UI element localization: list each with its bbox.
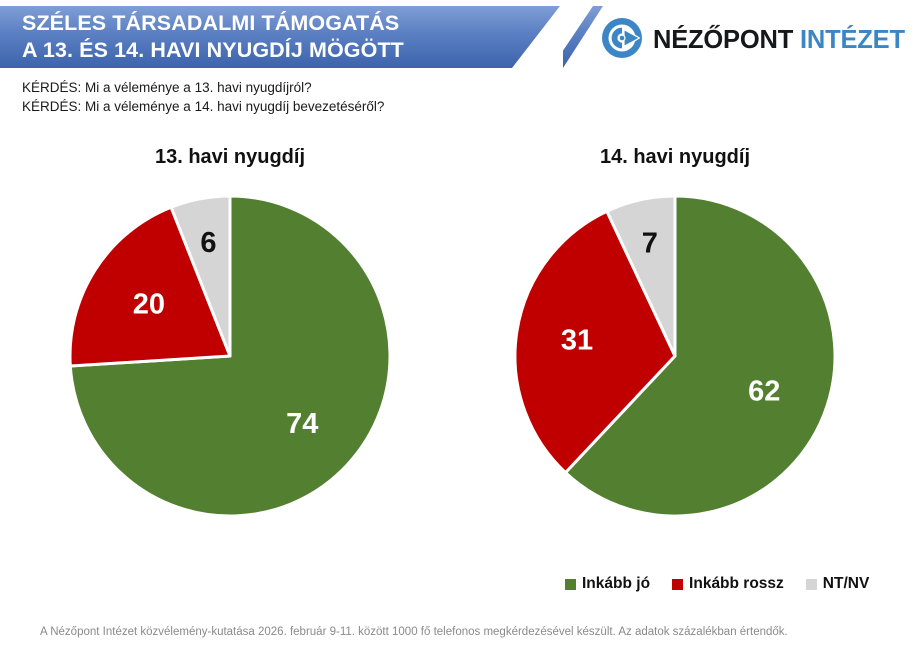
charts-area: 13. havi nyugdíj 74206 14. havi nyugdíj …	[0, 146, 913, 566]
pie-chart-14th-month: 14. havi nyugdíj 62317	[465, 146, 885, 566]
legend-item-inkabb-jo[interactable]: Inkább jó	[565, 575, 650, 593]
survey-question-1: KÉRDÉS: Mi a véleménye a 13. havi nyugdí…	[22, 78, 384, 97]
pie-canvas: 74206	[20, 188, 440, 528]
pie-slice-value-label: 7	[642, 228, 658, 260]
brand-name-secondary: INTÉZET	[800, 26, 905, 54]
pie-slice-value-label: 20	[133, 289, 165, 321]
header-banner-accent-sliver	[563, 6, 603, 68]
chart-title: 14. havi nyugdíj	[465, 146, 885, 169]
legend-swatch-icon	[565, 579, 576, 590]
legend-label: Inkább rossz	[689, 575, 784, 593]
methodology-note: A Nézőpont Intézet közvélemény-kutatása …	[40, 626, 788, 638]
survey-questions: KÉRDÉS: Mi a véleménye a 13. havi nyugdí…	[22, 78, 384, 116]
pie-canvas: 62317	[465, 188, 885, 528]
legend-label: Inkább jó	[582, 575, 650, 593]
header-banner: SZÉLES TÁRSADALMI TÁMOGATÁS A 13. ÉS 14.…	[0, 6, 600, 68]
legend-swatch-icon	[806, 579, 817, 590]
page-title: SZÉLES TÁRSADALMI TÁMOGATÁS A 13. ÉS 14.…	[22, 10, 522, 64]
page-title-line-2: A 13. ÉS 14. HAVI NYUGDÍJ MÖGÖTT	[22, 37, 522, 64]
pie-svg: 62317	[507, 188, 843, 524]
legend-label: NT/NV	[823, 575, 870, 593]
pie-slice-value-label: 6	[200, 227, 216, 259]
brand-name: NÉZŐPONT INTÉZET	[653, 26, 905, 55]
legend-item-inkabb-rossz[interactable]: Inkább rossz	[672, 575, 784, 593]
pie-slice-value-label: 74	[286, 408, 318, 440]
chart-title: 13. havi nyugdíj	[20, 146, 440, 169]
legend-item-nt-nv[interactable]: NT/NV	[806, 575, 870, 593]
legend-swatch-icon	[672, 579, 683, 590]
survey-question-2: KÉRDÉS: Mi a véleménye a 14. havi nyugdí…	[22, 97, 384, 116]
page-title-line-1: SZÉLES TÁRSADALMI TÁMOGATÁS	[22, 11, 399, 35]
pie-chart-13th-month: 13. havi nyugdíj 74206	[20, 146, 440, 566]
brand-logo: NÉZŐPONT INTÉZET	[600, 16, 905, 65]
pie-svg: 74206	[62, 188, 398, 524]
pie-slice-value-label: 62	[748, 375, 780, 407]
pie-slice-value-label: 31	[561, 324, 593, 356]
nezopont-eye-logo-icon	[600, 16, 644, 65]
chart-legend: Inkább jó Inkább rossz NT/NV	[565, 575, 869, 593]
brand-name-primary: NÉZŐPONT	[653, 26, 793, 54]
